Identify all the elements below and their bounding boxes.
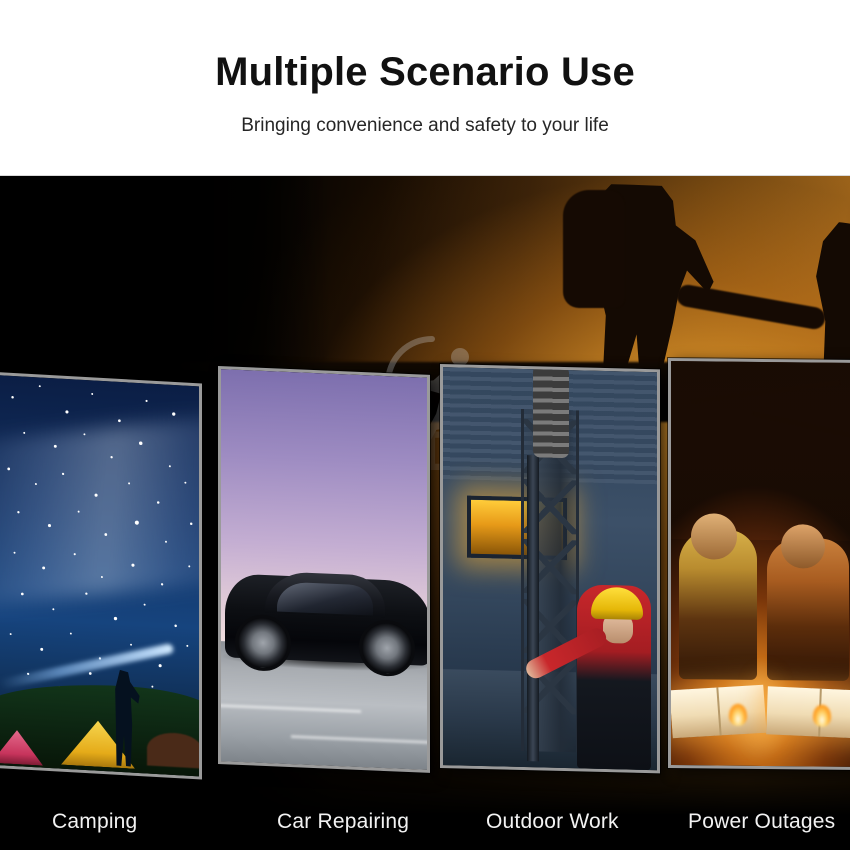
tower-mast — [527, 455, 539, 761]
camping-photo — [0, 375, 199, 776]
panel-label-power-outages: Power Outages — [688, 810, 835, 834]
hiker-backpack-icon — [563, 190, 625, 308]
panel-camping[interactable] — [0, 372, 202, 780]
outdoor-work-photo — [443, 367, 657, 770]
power-outage-photo — [671, 361, 850, 767]
book-spine — [716, 687, 721, 735]
promo-banner: Multiple Scenario Use Bringing convenien… — [0, 0, 850, 850]
candle-flame-left — [729, 704, 747, 726]
panel-car-repairing[interactable] — [218, 366, 430, 773]
scene-collage: OUTDOOR — [0, 176, 850, 850]
label-strip: Camping Car Repairing Outdoor Work Power… — [0, 788, 850, 850]
spring-coil — [533, 367, 569, 458]
book-left — [671, 685, 767, 738]
child-left-head — [691, 513, 737, 559]
car-photo — [221, 369, 427, 770]
panel-label-camping: Camping — [52, 810, 137, 834]
panel-label-outdoor-work: Outdoor Work — [486, 810, 619, 834]
panel-outdoor-work[interactable] — [440, 364, 660, 773]
panel-label-car-repairing: Car Repairing — [277, 810, 409, 834]
header-section: Multiple Scenario Use Bringing convenien… — [0, 0, 850, 176]
book-right — [766, 686, 850, 739]
child-right-head — [781, 524, 825, 568]
rock — [147, 731, 199, 768]
candle-flame-right — [813, 705, 831, 727]
page-subtitle: Bringing convenience and safety to your … — [241, 115, 609, 137]
car-window — [277, 581, 373, 615]
panel-power-outages[interactable] — [668, 358, 850, 770]
page-title: Multiple Scenario Use — [215, 52, 635, 92]
